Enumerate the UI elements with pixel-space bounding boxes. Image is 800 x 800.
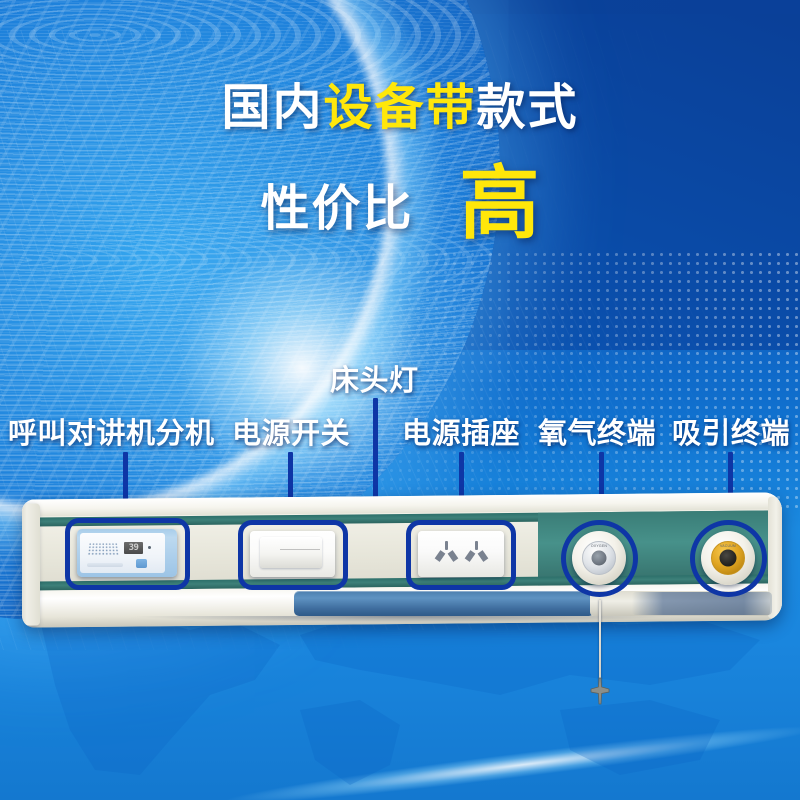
callout-box-power-switch (238, 520, 348, 590)
callout-box-nurse-call (65, 518, 190, 590)
headline-part-2: 设备带 (323, 81, 476, 135)
headline-line-1: 国内设备带款式 (0, 82, 800, 135)
callout-circle-oxygen-terminal (561, 520, 638, 597)
world-map-silhouette-icon (0, 600, 800, 800)
cord-hook-icon (585, 676, 615, 706)
callout-circle-suction-terminal (690, 520, 767, 597)
callout-label-bed-lamp: 床头灯 (330, 357, 419, 399)
callout-label-suction-terminal: 吸引终端 (672, 410, 790, 452)
panel-end-cap-left (22, 503, 40, 625)
subheadline-accent: 高 (460, 166, 540, 242)
headline-part-1: 国内 (221, 81, 323, 135)
callout-box-power-socket (406, 520, 516, 590)
panel-rail-right-shade (632, 592, 772, 615)
headline-part-3: 款式 (477, 81, 579, 135)
poster-canvas: 国内设备带款式 性价比 高 呼叫对讲机分机 电源开关 床头灯 电源插座 氧气终端… (0, 0, 800, 800)
pull-cord[interactable] (599, 600, 601, 685)
panel-drop-shadow (22, 616, 782, 630)
callout-label-power-socket: 电源插座 (402, 410, 520, 452)
subheadline-text: 性价比 (260, 169, 413, 240)
callout-label-power-switch: 电源开关 (232, 410, 350, 452)
panel-blue-light-diffuser (294, 591, 594, 616)
callout-label-oxygen-terminal: 氧气终端 (538, 410, 656, 452)
callout-label-nurse-call: 呼叫对讲机分机 (8, 410, 215, 452)
headline-line-2: 性价比 高 (0, 166, 800, 242)
